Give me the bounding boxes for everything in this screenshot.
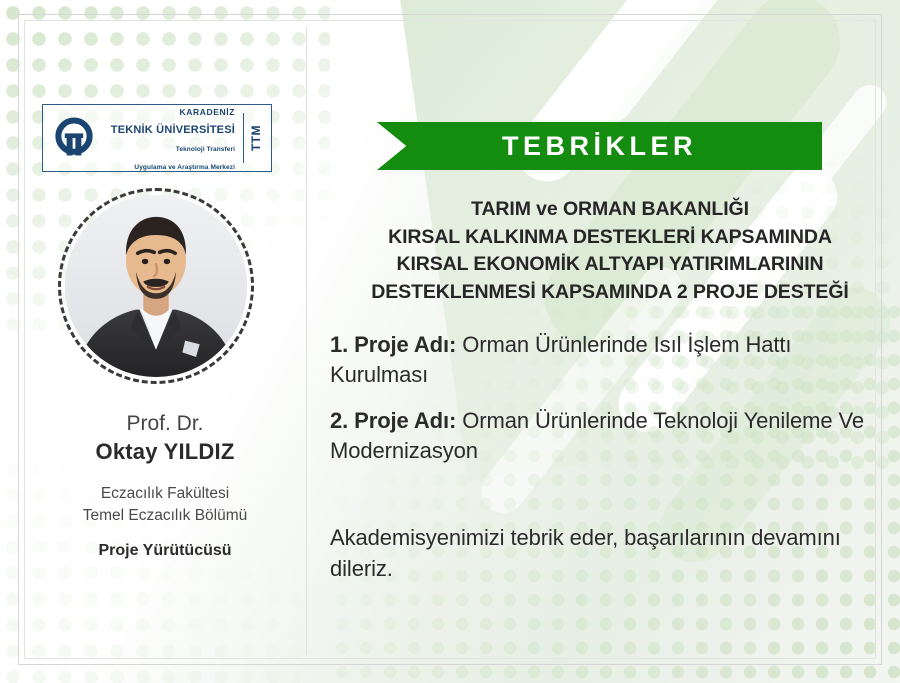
closing-message: Akademisyenimizi tebrik eder, başarıları… bbox=[330, 522, 890, 584]
ribbon-body: TEBRİKLER bbox=[377, 122, 822, 170]
congratulations-ribbon: TEBRİKLER bbox=[377, 122, 822, 170]
person-info: Prof. Dr. Oktay YILDIZ Eczacılık Fakülte… bbox=[24, 410, 306, 560]
portrait-container bbox=[58, 188, 254, 384]
logo-abbrev-ttm: TTM bbox=[249, 125, 263, 151]
headline-line-3: KIRSAL EKONOMİK ALTYAPI YATIRIMLARININ bbox=[330, 251, 890, 279]
headline-line-1: TARIM ve ORMAN BAKANLIĞI bbox=[330, 196, 890, 224]
logo-line-universite: TEKNİK ÜNİVERSİTESİ bbox=[111, 124, 235, 136]
column-divider bbox=[306, 26, 307, 655]
portrait-dashed-ring bbox=[58, 188, 254, 384]
right-column: TEBRİKLER TARIM ve ORMAN BAKANLIĞI KIRSA… bbox=[330, 0, 890, 683]
ktu-emblem-icon bbox=[51, 115, 97, 161]
headline-line-4: DESTEKLENMESİ KAPSAMINDA 2 PROJE DESTEĞİ bbox=[330, 279, 890, 307]
ribbon-label: TEBRİKLER bbox=[502, 131, 697, 162]
headline-block: TARIM ve ORMAN BAKANLIĞI KIRSAL KALKINMA… bbox=[330, 196, 890, 307]
logo-line-merkez: Uygulama ve Araştırma Merkezi bbox=[134, 164, 235, 171]
logo-line-karadeniz: KARADENİZ bbox=[180, 107, 235, 117]
project-label: 2. Proje Adı: bbox=[330, 408, 456, 433]
congratulations-poster: KARADENİZ TEKNİK ÜNİVERSİTESİ Teknoloji … bbox=[0, 0, 900, 683]
projects-list: 1. Proje Adı: Orman Ürünlerinde Isıl İşl… bbox=[330, 330, 890, 482]
person-title: Prof. Dr. bbox=[24, 410, 306, 437]
person-department: Temel Eczacılık Bölümü bbox=[24, 505, 306, 527]
person-role: Proje Yürütücüsü bbox=[24, 542, 306, 560]
project-item: 2. Proje Adı: Orman Ürünlerinde Teknoloj… bbox=[330, 406, 890, 466]
person-faculty: Eczacılık Fakültesi bbox=[24, 483, 306, 505]
ktu-ttm-logo: KARADENİZ TEKNİK ÜNİVERSİTESİ Teknoloji … bbox=[42, 104, 272, 172]
left-column: KARADENİZ TEKNİK ÜNİVERSİTESİ Teknoloji … bbox=[24, 20, 306, 660]
person-name: Oktay YILDIZ bbox=[24, 437, 306, 467]
ktu-logo-text: KARADENİZ TEKNİK ÜNİVERSİTESİ Teknoloji … bbox=[97, 102, 241, 174]
logo-divider bbox=[243, 113, 244, 163]
project-item: 1. Proje Adı: Orman Ürünlerinde Isıl İşl… bbox=[330, 330, 890, 390]
project-label: 1. Proje Adı: bbox=[330, 332, 456, 357]
headline-line-2: KIRSAL KALKINMA DESTEKLERİ KAPSAMINDA bbox=[330, 224, 890, 252]
logo-line-teknoloji: Teknoloji Transferi bbox=[176, 146, 235, 153]
